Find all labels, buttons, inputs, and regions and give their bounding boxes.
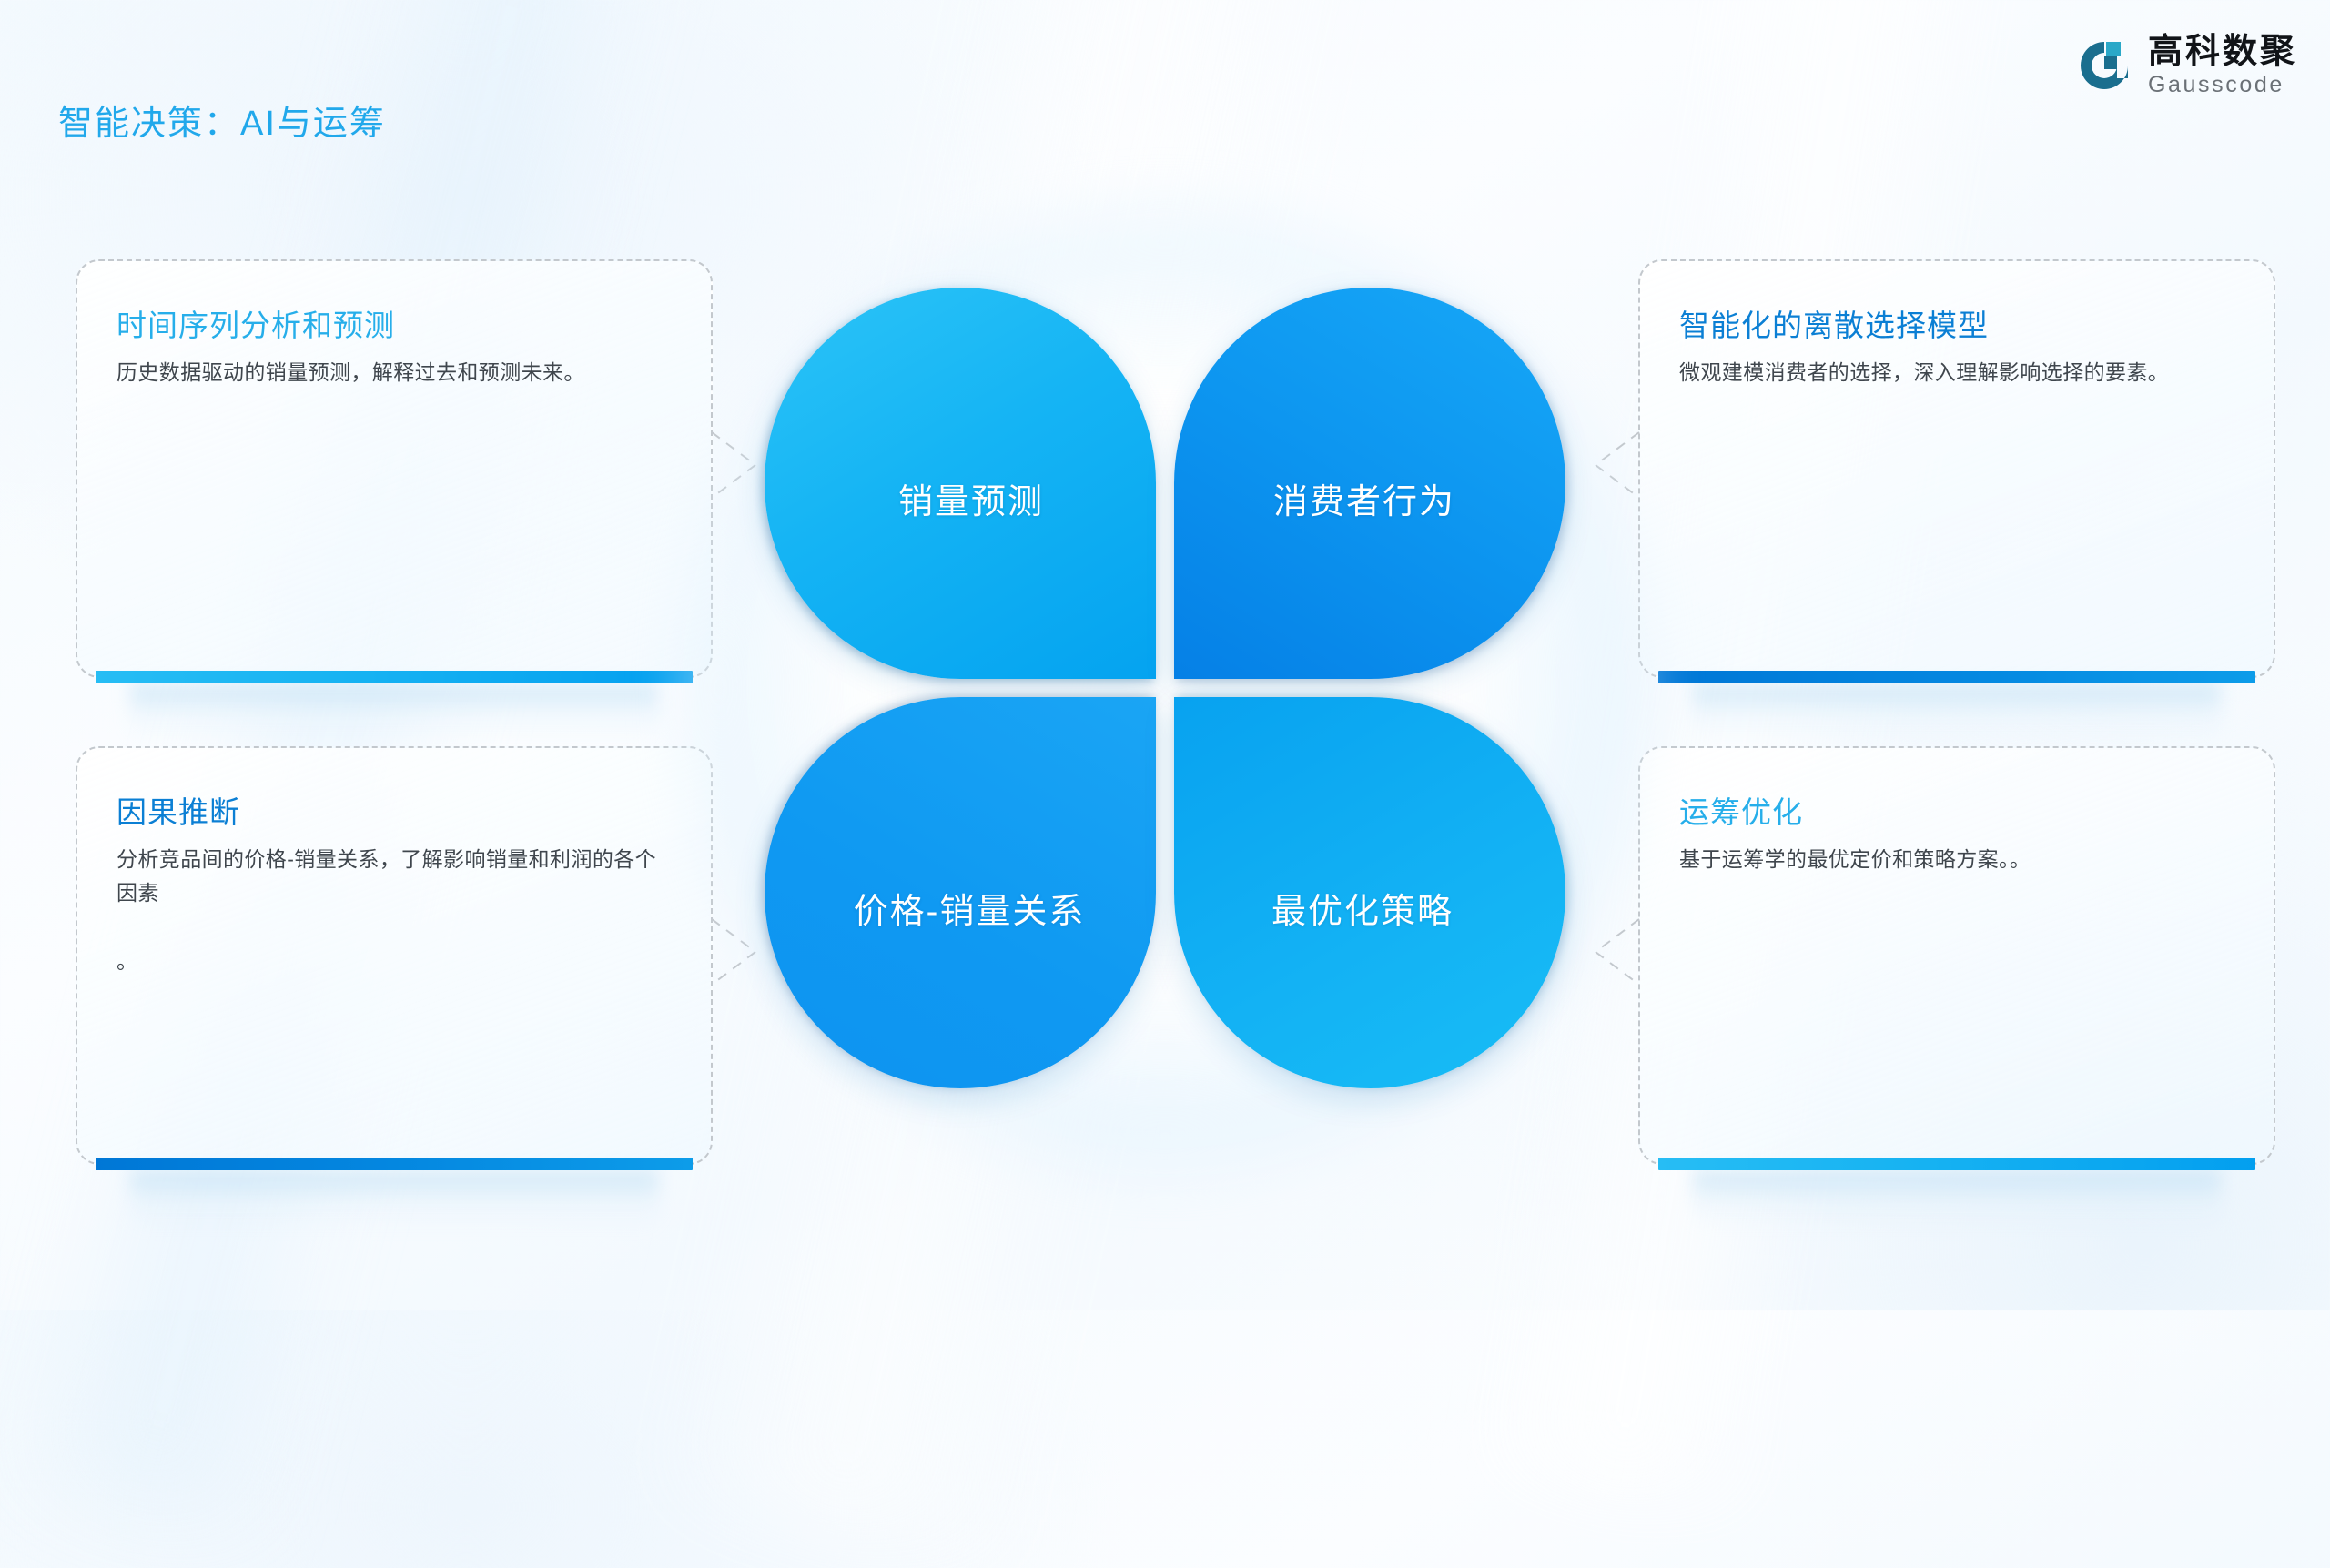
- card-glow: [1693, 683, 2221, 744]
- petal-label: 消费者行为: [1273, 473, 1455, 523]
- card-glow: [1693, 1170, 2221, 1230]
- card-body: 基于运筹学的最优定价和策略方案。。: [1679, 843, 2225, 876]
- petal-diagram: 销量预测 消费者行为 价格-销量关系 最优化策略: [765, 288, 1565, 1088]
- card-accent-bar: [1658, 671, 2255, 683]
- info-card-discrete-choice[interactable]: 智能化的离散选择模型 微观建模消费者的选择，深入理解影响选择的要素。: [1638, 259, 2275, 678]
- slide-canvas: 智能决策：AI与运筹 高科数聚 Gausscode 时间序列分析和预测 历史数据…: [0, 0, 2330, 1310]
- petal-consumer-behavior[interactable]: 消费者行为: [1174, 288, 1565, 679]
- card-body: 历史数据驱动的销量预测，解释过去和预测未来。: [116, 356, 663, 389]
- card-title: 智能化的离散选择模型: [1679, 301, 1989, 345]
- card-body: 分析竞品间的价格-销量关系，了解影响销量和利润的各个因素 。: [116, 843, 663, 978]
- info-card-operations-research[interactable]: 运筹优化 基于运筹学的最优定价和策略方案。。: [1638, 746, 2275, 1165]
- petal-sales-forecast[interactable]: 销量预测: [765, 288, 1156, 679]
- petal-label: 价格-销量关系: [854, 883, 1086, 933]
- page-title: 智能决策：AI与运筹: [58, 95, 386, 145]
- card-title: 时间序列分析和预测: [116, 301, 395, 345]
- gausscode-mark-icon: [2077, 38, 2132, 93]
- card-glow: [130, 683, 658, 744]
- card-accent-bar: [96, 671, 693, 683]
- card-accent-bar: [96, 1158, 693, 1170]
- petal-optimal-strategy[interactable]: 最优化策略: [1174, 697, 1565, 1088]
- logo-text-cn: 高科数聚: [2148, 35, 2297, 69]
- brand-logo: 高科数聚 Gausscode: [2077, 35, 2297, 96]
- info-card-causal-inference[interactable]: 因果推断 分析竞品间的价格-销量关系，了解影响销量和利润的各个因素 。: [76, 746, 713, 1165]
- card-title: 因果推断: [116, 788, 240, 832]
- petal-label: 最优化策略: [1271, 883, 1454, 933]
- card-accent-bar: [1658, 1158, 2255, 1170]
- petal-diagram-halo: [664, 187, 1666, 1189]
- card-glow: [130, 1170, 658, 1230]
- info-card-time-series[interactable]: 时间序列分析和预测 历史数据驱动的销量预测，解释过去和预测未来。: [76, 259, 713, 678]
- petal-price-volume[interactable]: 价格-销量关系: [765, 697, 1156, 1088]
- card-body: 微观建模消费者的选择，深入理解影响选择的要素。: [1679, 356, 2225, 389]
- petal-label: 销量预测: [898, 473, 1044, 523]
- card-title: 运筹优化: [1679, 788, 1803, 832]
- logo-text-en: Gausscode: [2148, 74, 2297, 96]
